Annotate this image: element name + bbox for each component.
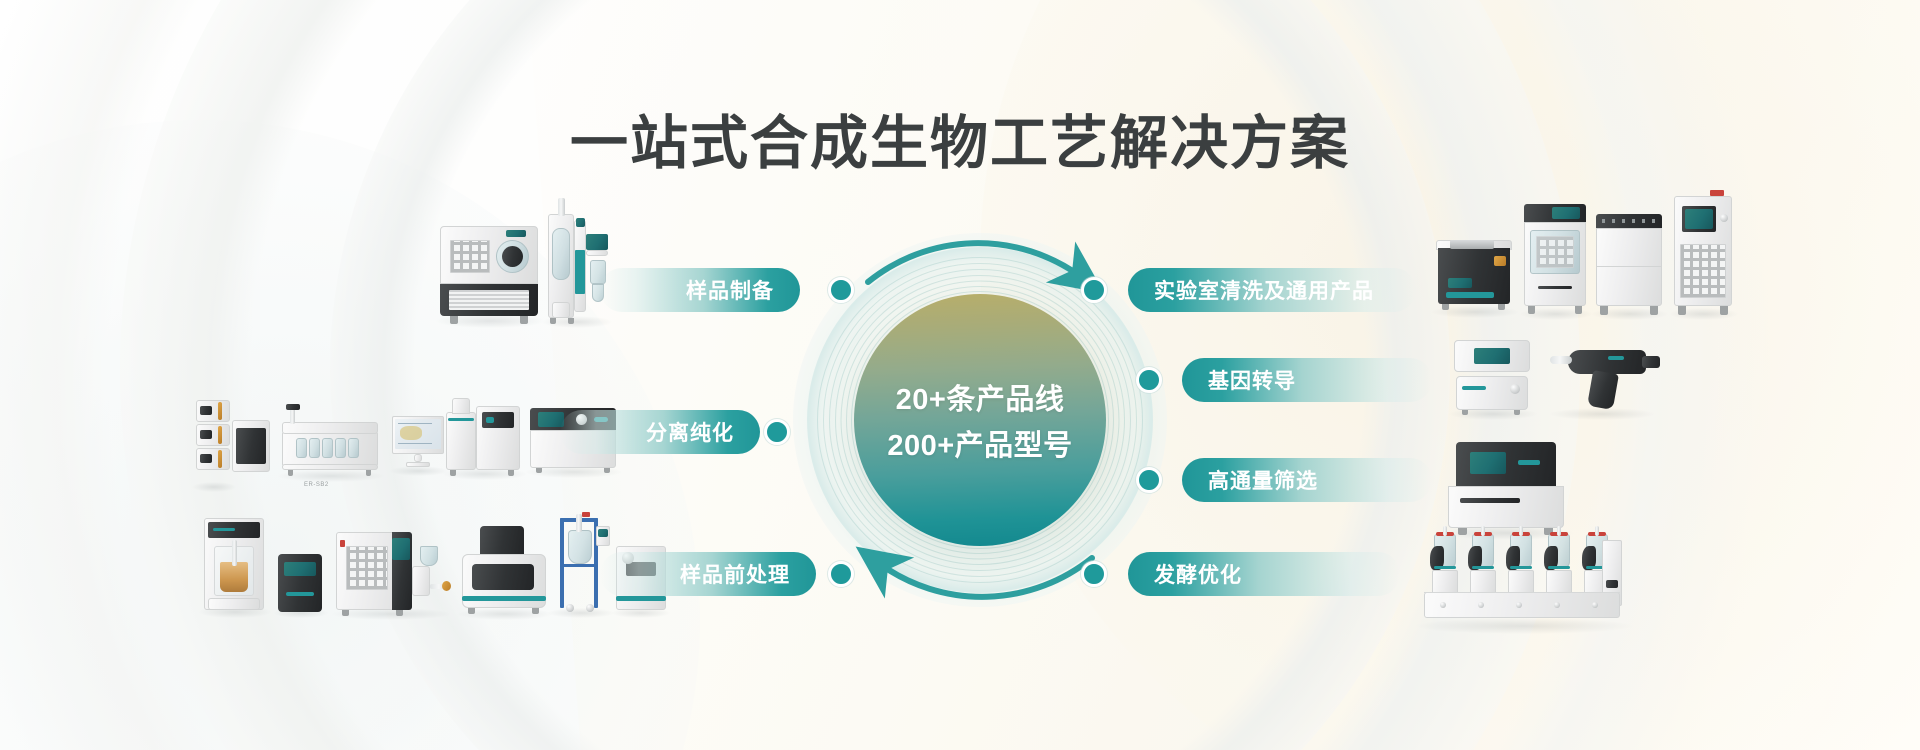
- stage-label-high-throughput-screening: 高通量筛选: [1208, 465, 1318, 495]
- stage-pill-sample-preparation[interactable]: 样品制备: [600, 268, 800, 312]
- freeze-dryer: [440, 226, 538, 324]
- stage-label-sample-pretreatment: 样品前处理: [680, 559, 790, 589]
- lab-dishwasher: [1596, 214, 1662, 316]
- hub-stat-product-models: 200+产品型号: [887, 422, 1072, 464]
- preparative-chromatograph: [446, 392, 520, 476]
- hub-core-circle: 20+条产品线 200+产品型号: [854, 294, 1106, 546]
- node-dot-sample-preparation[interactable]: [828, 277, 854, 303]
- ultrasonic-cleaner: [1436, 240, 1512, 314]
- equipment-cluster-gene-transduction: [1454, 340, 1664, 428]
- bioreactor-unit: [1504, 532, 1538, 592]
- stage-pill-separation-purification[interactable]: 分离纯化: [560, 410, 760, 454]
- microplate-screening-system: [1448, 442, 1564, 538]
- flow-arrow-top: [868, 243, 1080, 282]
- node-dot-high-throughput-screening[interactable]: [1136, 467, 1162, 493]
- node-dot-sample-pretreatment[interactable]: [828, 561, 854, 587]
- stage-label-lab-washing-general: 实验室清洗及通用产品: [1154, 275, 1374, 305]
- bioreactor-unit: [1542, 532, 1576, 592]
- glassware-washer: [1524, 204, 1586, 316]
- stage-label-separation-purification: 分离纯化: [646, 417, 734, 447]
- benchtop-disruptor: [278, 554, 322, 614]
- stage-pill-lab-washing-general[interactable]: 实验室清洗及通用产品: [1128, 268, 1416, 312]
- equipment-cluster-separation-purification: ER-SB2: [196, 382, 616, 490]
- page-title: 一站式合成生物工艺解决方案: [0, 96, 1920, 180]
- fraction-collector: ER-SB2: [282, 404, 378, 478]
- equipment-cluster-fermentation-optimization: [1424, 526, 1624, 636]
- equipment-cluster-sample-preparation: [440, 198, 610, 328]
- bead-mill: [462, 526, 546, 616]
- stage-pill-sample-pretreatment[interactable]: 样品前处理: [600, 552, 816, 596]
- bioreactor-unit: [1428, 532, 1462, 592]
- equipment-cluster-lab-washing-general: [1436, 190, 1726, 330]
- flow-arrow-bottom: [880, 558, 1092, 597]
- high-pressure-homogenizer: [336, 532, 458, 616]
- ultrasonic-homogenizer: [204, 518, 264, 614]
- stage-label-sample-preparation: 样品制备: [686, 275, 774, 305]
- parallel-bioreactor-array: [1424, 526, 1622, 630]
- stage-label-gene-transduction: 基因转导: [1208, 365, 1296, 395]
- bioreactor-unit: [1466, 532, 1500, 592]
- drying-sterilizing-cabinet: [1674, 190, 1732, 316]
- fraction-collector-caption: ER-SB2: [304, 482, 329, 488]
- stage-label-fermentation-optimization: 发酵优化: [1154, 559, 1242, 589]
- stage-pill-gene-transduction[interactable]: 基因转导: [1182, 358, 1432, 402]
- gene-gun: [1550, 346, 1662, 418]
- stage-pill-fermentation-optimization[interactable]: 发酵优化: [1128, 552, 1400, 596]
- node-dot-separation-purification[interactable]: [764, 419, 790, 445]
- column-oven: [232, 420, 270, 472]
- node-dot-lab-washing-general[interactable]: [1081, 277, 1107, 303]
- node-dot-fermentation-optimization[interactable]: [1081, 561, 1107, 587]
- hub-stat-product-lines: 20+条产品线: [896, 376, 1065, 418]
- infographic-canvas: 一站式合成生物工艺解决方案: [0, 0, 1920, 750]
- electroporator: [1454, 340, 1530, 416]
- liquid-chromatography-system: [196, 400, 230, 472]
- node-dot-gene-transduction[interactable]: [1136, 367, 1162, 393]
- stage-pill-high-throughput-screening[interactable]: 高通量筛选: [1182, 458, 1432, 502]
- equipment-cluster-sample-pretreatment: [204, 512, 604, 640]
- workstation-computer: [392, 416, 444, 474]
- spray-dryer: [544, 198, 610, 326]
